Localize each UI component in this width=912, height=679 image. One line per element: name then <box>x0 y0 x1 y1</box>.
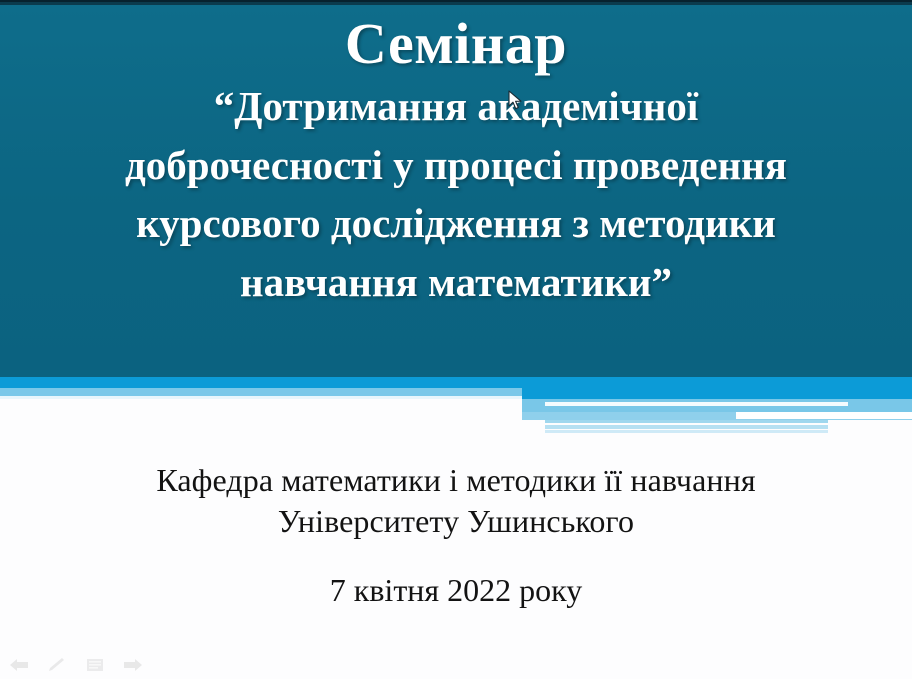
previous-slide-icon[interactable] <box>8 657 30 673</box>
stripe-accent-line-3 <box>545 420 828 423</box>
stripe-accent-line-1 <box>545 402 848 406</box>
department-line-2: Університету Ушинського <box>0 501 912 542</box>
stripe-right-primary <box>522 377 912 399</box>
top-edge-band-dark <box>0 0 912 2</box>
menu-icon[interactable] <box>84 657 106 673</box>
decorative-stripe-band <box>0 377 912 437</box>
stripe-left-fade <box>0 396 522 399</box>
event-date: 7 квітня 2022 року <box>0 571 912 609</box>
stripe-accent-line-4 <box>545 425 828 429</box>
title-panel: Семінар “Дотримання академічної доброчес… <box>0 5 912 377</box>
slide-body: Кафедра математики і методики її навчанн… <box>0 460 912 610</box>
presentation-slide[interactable]: Семінар “Дотримання академічної доброчес… <box>0 0 912 679</box>
slide-title-line-1: “Дотримання академічної <box>11 77 901 136</box>
slide-title-line-4: навчання математики” <box>11 253 901 312</box>
next-slide-icon[interactable] <box>122 657 144 673</box>
department-line-1: Кафедра математики і методики її навчанн… <box>0 460 912 501</box>
stripe-left-primary <box>0 377 522 388</box>
stripe-left-secondary <box>0 388 522 396</box>
stripe-accent-line-5 <box>545 430 828 433</box>
presenter-toolbar[interactable] <box>8 657 144 673</box>
slide-title-line-3: курсового дослідження з методики <box>11 194 901 253</box>
slide-title-line-2: доброчесності у процесі проведення <box>11 136 901 195</box>
stripe-accent-line-2 <box>736 412 912 419</box>
slide-title: “Дотримання академічної доброчесності у … <box>11 77 901 312</box>
title-panel-content: Семінар “Дотримання академічної доброчес… <box>0 5 912 377</box>
slide-headline: Семінар <box>345 14 567 73</box>
pen-icon[interactable] <box>46 657 68 673</box>
